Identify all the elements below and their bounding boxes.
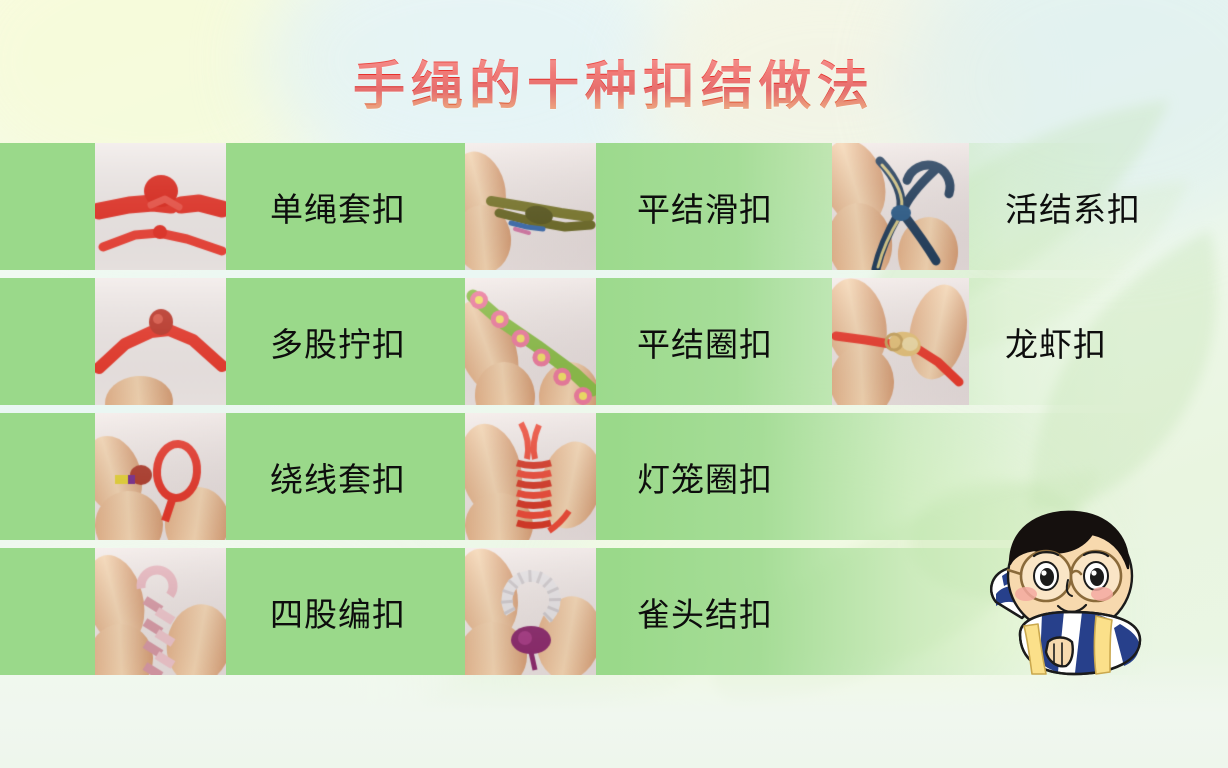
slide-canvas: 手绳的十种扣结做法 单绳套扣平结滑扣活结系扣多股拧扣平结圈扣龙虾扣绕线套扣灯笼圈… [0,0,1228,768]
knot-label: 灯笼圈扣 [637,413,773,540]
knot-row: 单绳套扣平结滑扣活结系扣 [0,143,1228,270]
knot-label: 单绳套扣 [270,143,406,270]
cartoon-boy-with-glasses-icon [962,494,1214,714]
knot-label: 绕线套扣 [270,413,406,540]
knot-label: 四股编扣 [270,548,406,675]
knot-thumbnail-red-braided-cord-knot-photo[interactable] [95,143,226,270]
knot-thumbnail-white-purple-lark-head-knot-photo[interactable] [465,548,596,675]
knot-label: 雀头结扣 [637,548,773,675]
knot-label: 平结圈扣 [637,278,773,405]
slide-title-container: 手绳的十种扣结做法 [0,44,1228,119]
knot-thumbnail-red-cord-with-bead-photo[interactable] [95,278,226,405]
knot-label: 多股拧扣 [270,278,406,405]
knot-thumbnail-pink-four-strand-braid-photo[interactable] [95,548,226,675]
knot-thumbnail-red-lantern-knot-loop-photo[interactable] [465,413,596,540]
knot-row: 多股拧扣平结圈扣龙虾扣 [0,278,1228,405]
knot-thumbnail-blue-patterned-bow-knot-photo[interactable] [832,143,969,270]
knot-label: 龙虾扣 [1005,278,1107,405]
knot-thumbnail-colorful-woven-band-photo[interactable] [465,278,596,405]
page-title: 手绳的十种扣结做法 [353,44,875,119]
knot-label: 活结系扣 [1005,143,1141,270]
knot-label: 平结滑扣 [637,143,773,270]
knot-thumbnail-red-loop-with-bead-photo[interactable] [95,413,226,540]
knot-thumbnail-red-cord-lobster-clasp-photo[interactable] [832,278,969,405]
knot-thumbnail-olive-cord-flat-knot-photo[interactable] [465,143,596,270]
